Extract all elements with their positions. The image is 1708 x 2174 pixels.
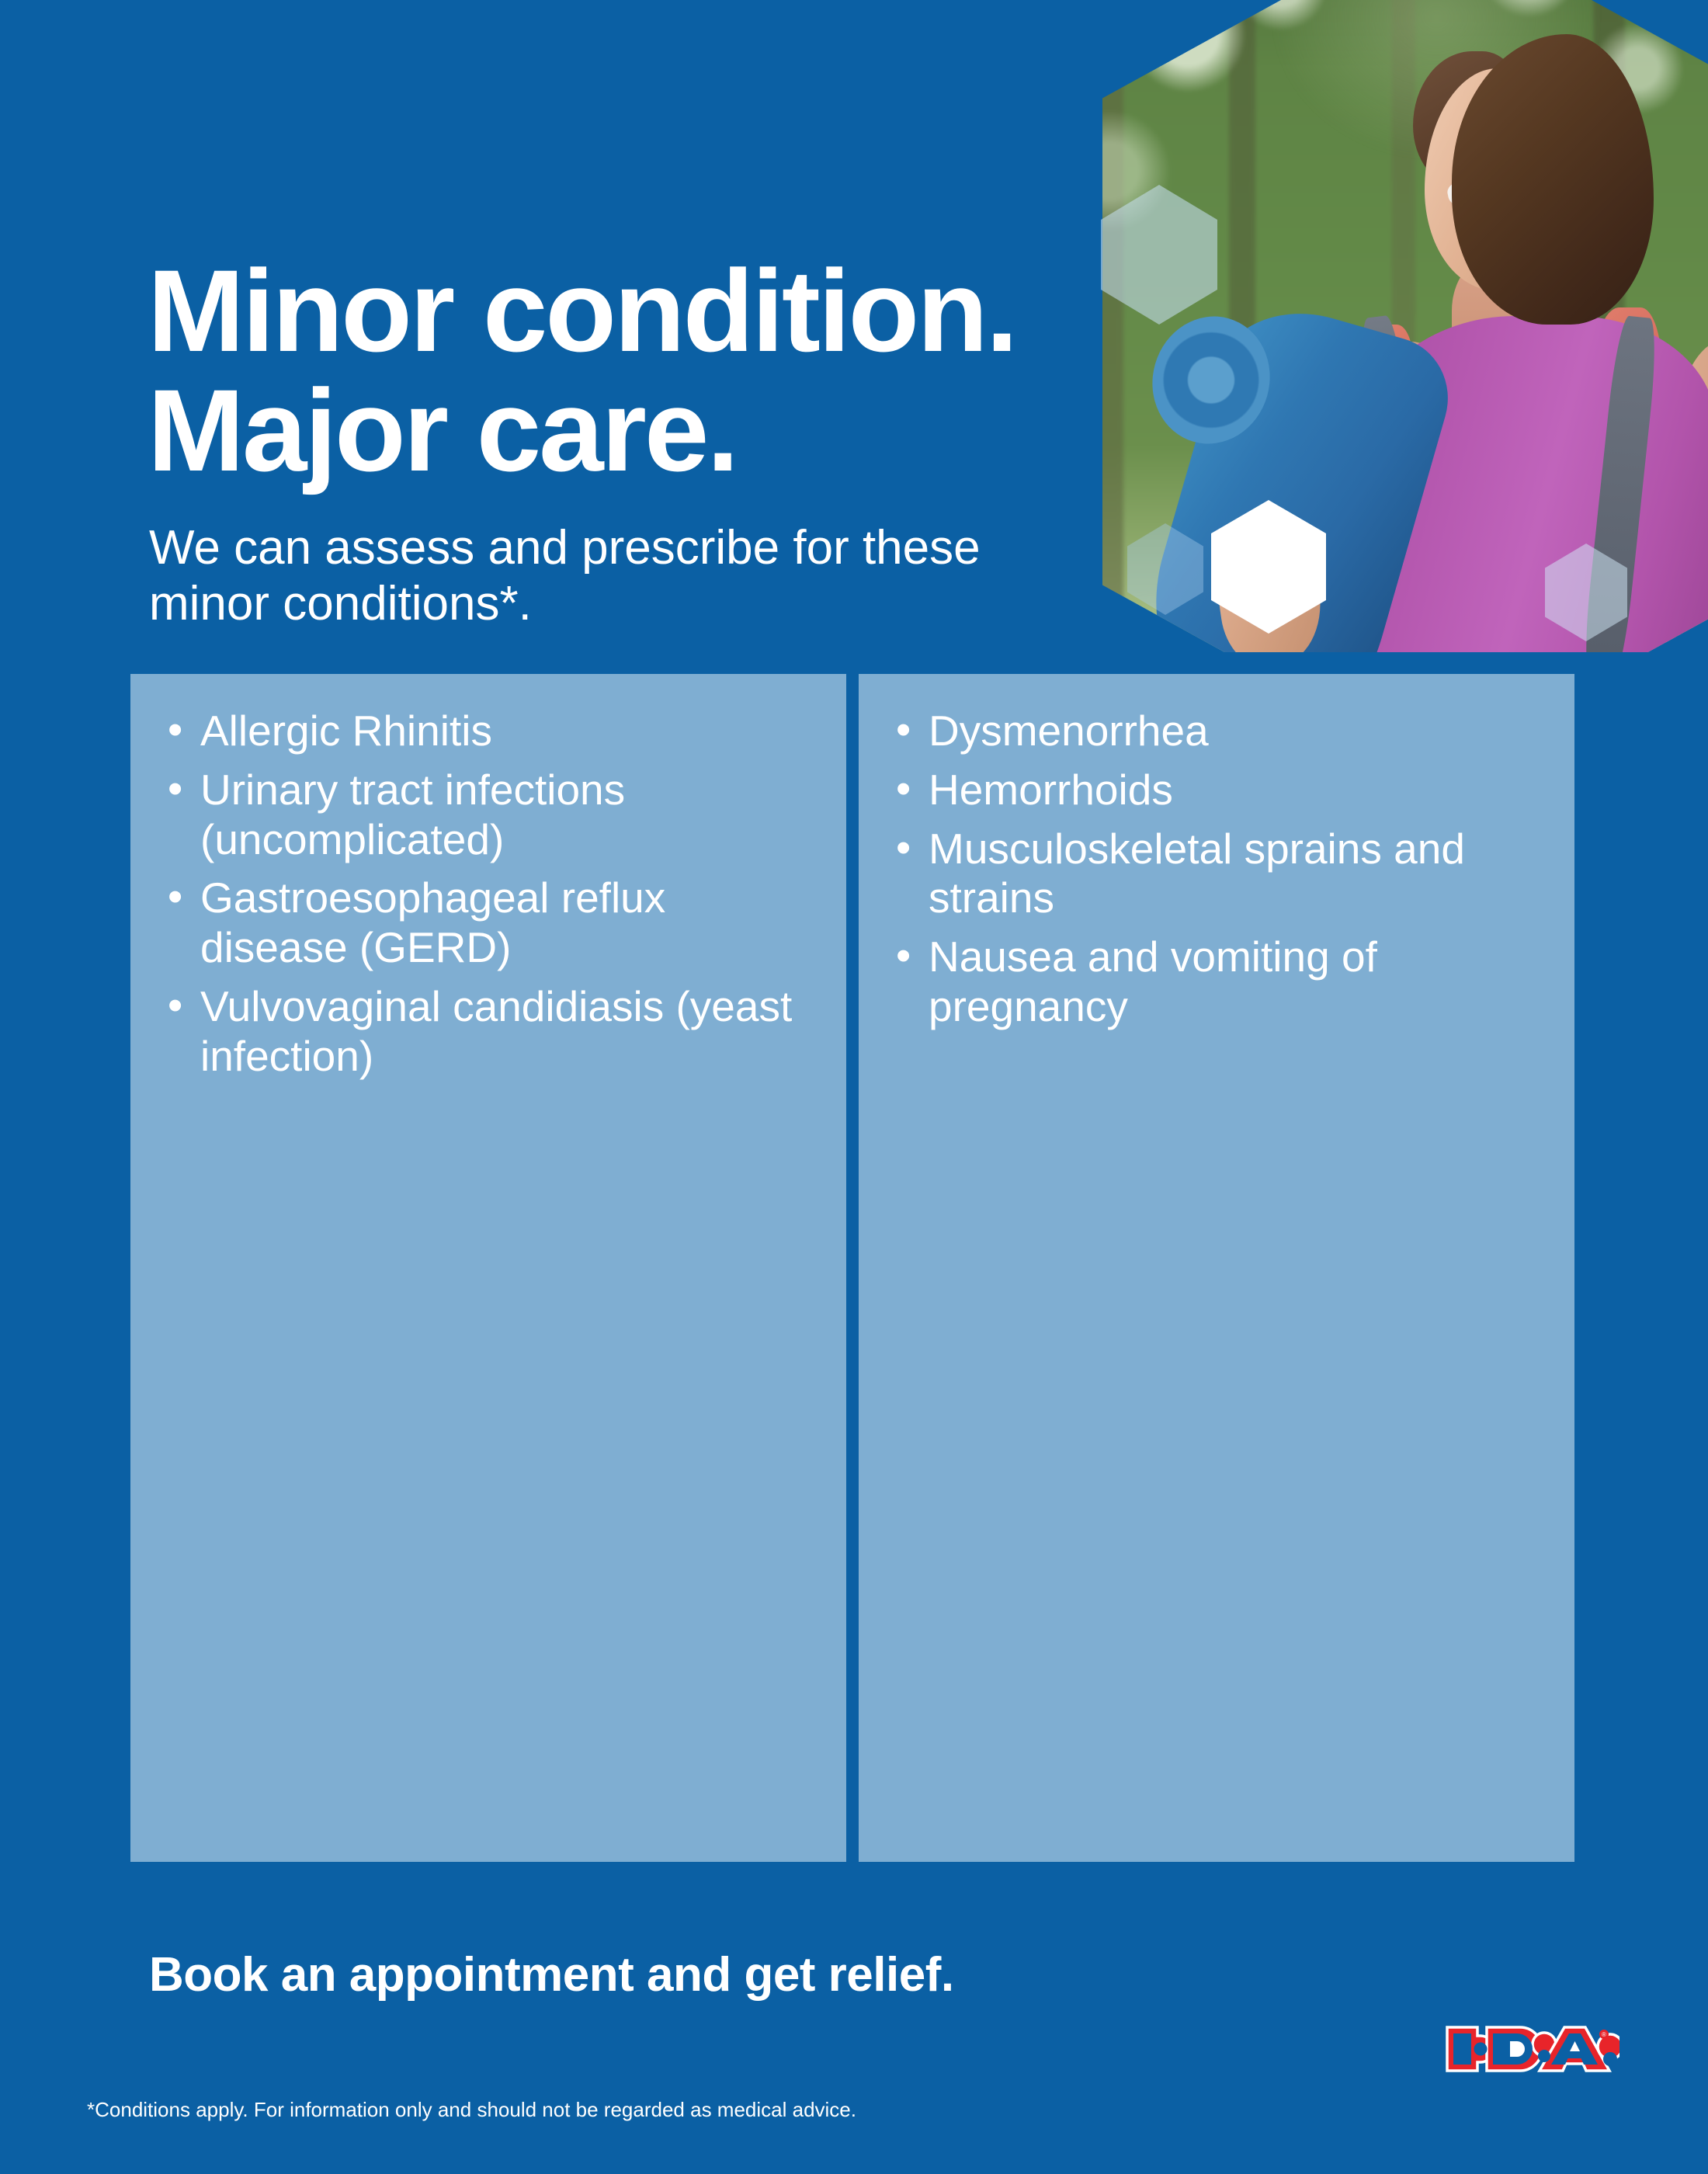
list-item: Hemorrhoids <box>894 766 1539 815</box>
list-item: Musculoskeletal sprains and strains <box>894 825 1539 924</box>
list-item: Allergic Rhinitis <box>166 707 811 756</box>
disclaimer-text: *Conditions apply. For information only … <box>87 2098 856 2122</box>
conditions-panel-right: Dysmenorrhea Hemorrhoids Musculoskeletal… <box>859 674 1574 1862</box>
conditions-panels: Allergic Rhinitis Urinary tract infectio… <box>130 674 1574 1862</box>
ida-logo-icon: ® <box>1441 2019 1619 2079</box>
poster-root: Minor condition. Major care. We can asse… <box>0 0 1708 2174</box>
page-title: Minor condition. Major care. <box>148 251 1064 491</box>
conditions-list-right: Dysmenorrhea Hemorrhoids Musculoskeletal… <box>894 707 1539 1032</box>
headline-line-1: Minor condition. <box>148 245 1015 376</box>
call-to-action-text: Book an appointment and get relief. <box>149 1947 954 2002</box>
headline-line-2: Major care. <box>148 365 737 495</box>
ida-logo: ® <box>1441 2019 1619 2079</box>
registered-trademark-symbol: ® <box>1602 2031 1606 2038</box>
list-item: Urinary tract infections (uncomplicated) <box>166 766 811 865</box>
list-item: Dysmenorrhea <box>894 707 1539 756</box>
subheading-line-2: minor conditions*. <box>149 577 532 630</box>
subheading: We can assess and prescribe for these mi… <box>149 520 1081 632</box>
subheading-line-1: We can assess and prescribe for these <box>149 521 981 575</box>
conditions-list-left: Allergic Rhinitis Urinary tract infectio… <box>166 707 811 1082</box>
list-item: Vulvovaginal candidiasis (yeast infectio… <box>166 982 811 1082</box>
list-item: Nausea and vomiting of pregnancy <box>894 932 1539 1032</box>
list-item: Gastroesophageal reflux disease (GERD) <box>166 873 811 973</box>
conditions-panel-left: Allergic Rhinitis Urinary tract infectio… <box>130 674 846 1862</box>
